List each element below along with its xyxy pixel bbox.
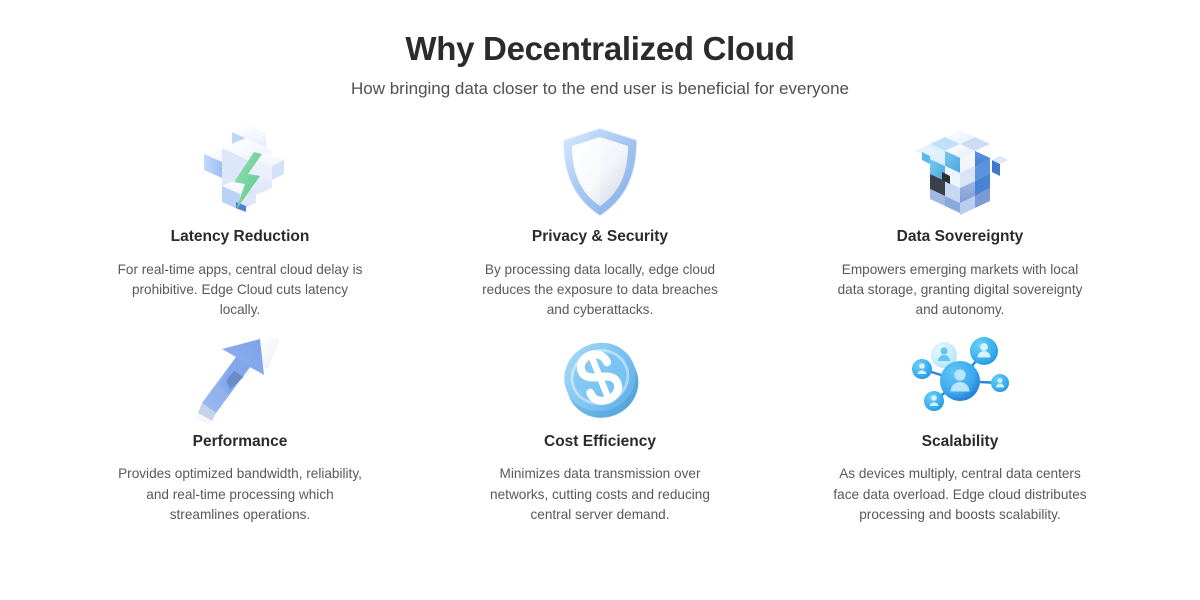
feature-description: For real-time apps, central cloud delay …	[114, 260, 366, 321]
arrow-up-icon	[185, 327, 295, 427]
feature-title: Data Sovereignty	[897, 228, 1024, 247]
feature-title: Privacy & Security	[532, 228, 668, 247]
feature-description: Provides optimized bandwidth, reliabilit…	[114, 464, 366, 525]
section-header: Why Decentralized Cloud How bringing dat…	[0, 0, 1200, 100]
page-title: Why Decentralized Cloud	[0, 28, 1200, 69]
feature-title: Latency Reduction	[171, 228, 310, 247]
page-subtitle: How bringing data closer to the end user…	[0, 78, 1200, 100]
feature-title: Cost Efficiency	[544, 433, 656, 452]
feature-card-cost-efficiency: Cost Efficiency Minimizes data transmiss…	[420, 327, 780, 525]
cube-cluster-icon	[905, 122, 1015, 222]
feature-grid: Latency Reduction For real-time apps, ce…	[0, 122, 1200, 525]
dollar-coin-icon	[545, 327, 655, 427]
blocks-lightning-icon	[185, 122, 295, 222]
feature-card-privacy-security: Privacy & Security By processing data lo…	[420, 122, 780, 320]
feature-description: Empowers emerging markets with local dat…	[834, 260, 1086, 321]
feature-description: By processing data locally, edge cloud r…	[474, 260, 726, 321]
feature-title: Performance	[193, 433, 288, 452]
feature-description: As devices multiply, central data center…	[826, 464, 1094, 525]
shield-icon	[545, 122, 655, 222]
feature-card-scalability: Scalability As devices multiply, central…	[780, 327, 1140, 525]
feature-title: Scalability	[922, 433, 999, 452]
feature-description: Minimizes data transmission over network…	[474, 464, 726, 525]
feature-card-data-sovereignty: Data Sovereignty Empowers emerging marke…	[780, 122, 1140, 320]
feature-section: Why Decentralized Cloud How bringing dat…	[0, 0, 1200, 600]
network-users-icon	[905, 327, 1015, 427]
feature-card-latency-reduction: Latency Reduction For real-time apps, ce…	[60, 122, 420, 320]
feature-card-performance: Performance Provides optimized bandwidth…	[60, 327, 420, 525]
